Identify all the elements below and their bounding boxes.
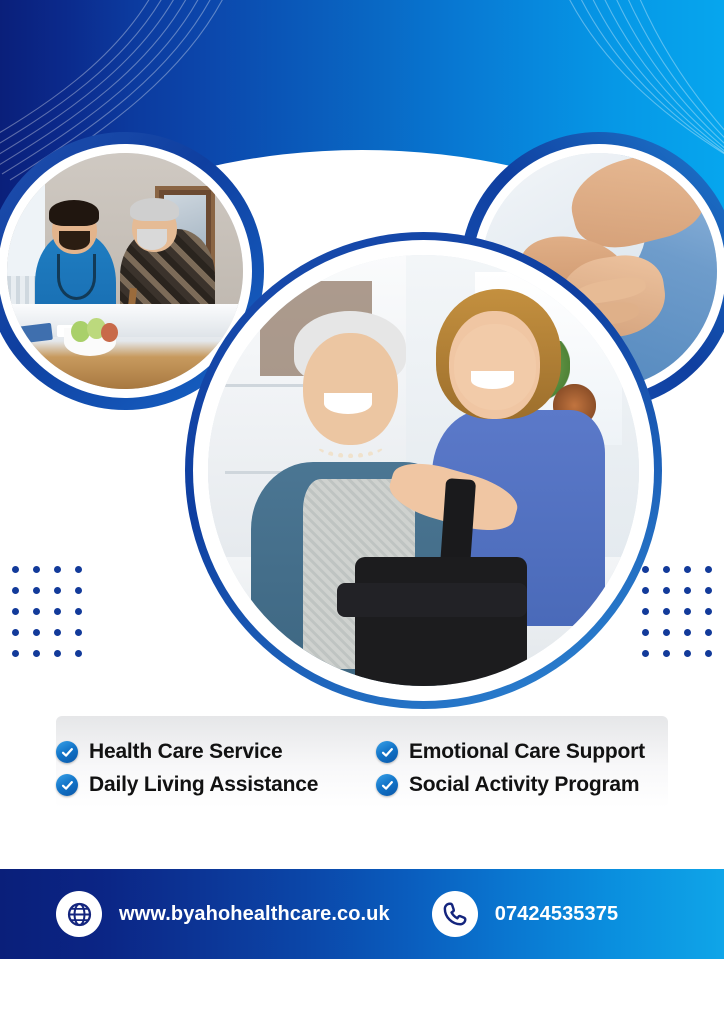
check-circle-icon <box>56 741 78 763</box>
dot <box>663 566 670 573</box>
dot <box>54 650 61 657</box>
website-contact[interactable]: www.byahohealthcare.co.uk <box>56 891 390 937</box>
dot <box>75 608 82 615</box>
phone-contact[interactable]: 07424535375 <box>432 891 618 937</box>
dot <box>12 608 19 615</box>
dot <box>54 629 61 636</box>
dot <box>75 629 82 636</box>
footer-contact-bar: www.byahohealthcare.co.uk 07424535375 <box>0 869 724 959</box>
dot <box>33 629 40 636</box>
dot <box>33 608 40 615</box>
dot <box>663 650 670 657</box>
feature-item-emotional-care-support: Emotional Care Support <box>376 740 676 764</box>
dot <box>33 587 40 594</box>
dot <box>705 608 712 615</box>
dot <box>33 566 40 573</box>
check-circle-icon <box>56 774 78 796</box>
feature-label: Health Care Service <box>89 740 282 764</box>
dot <box>12 566 19 573</box>
dot <box>12 650 19 657</box>
dot-grid-left <box>12 566 82 657</box>
dot <box>642 650 649 657</box>
dot <box>642 566 649 573</box>
dot <box>705 650 712 657</box>
dot <box>684 587 691 594</box>
feature-label: Social Activity Program <box>409 773 639 797</box>
dot <box>705 566 712 573</box>
dot <box>684 566 691 573</box>
dot <box>705 587 712 594</box>
dot <box>75 566 82 573</box>
dot <box>684 650 691 657</box>
check-circle-icon <box>376 774 398 796</box>
feature-item-daily-living-assistance: Daily Living Assistance <box>56 773 376 797</box>
dot <box>75 587 82 594</box>
dot <box>663 608 670 615</box>
features-list: Health Care Service Emotional Care Suppo… <box>56 740 680 797</box>
dot <box>642 608 649 615</box>
globe-icon <box>56 891 102 937</box>
dot <box>705 629 712 636</box>
dot <box>642 587 649 594</box>
dot <box>684 608 691 615</box>
dot <box>54 587 61 594</box>
dot <box>75 650 82 657</box>
dot <box>663 587 670 594</box>
dot <box>642 629 649 636</box>
dot <box>33 650 40 657</box>
dot-grid-right <box>642 566 712 657</box>
dot <box>54 608 61 615</box>
dot <box>684 629 691 636</box>
photo-caregiver-and-senior-woman <box>208 255 639 686</box>
website-url[interactable]: www.byahohealthcare.co.uk <box>119 903 390 926</box>
dot <box>12 629 19 636</box>
feature-label: Daily Living Assistance <box>89 773 318 797</box>
phone-icon <box>432 891 478 937</box>
healthcare-flyer: Health Care Service Emotional Care Suppo… <box>0 0 724 1024</box>
feature-item-social-activity-program: Social Activity Program <box>376 773 676 797</box>
phone-number[interactable]: 07424535375 <box>495 903 618 926</box>
feature-label: Emotional Care Support <box>409 740 645 764</box>
feature-item-health-care-service: Health Care Service <box>56 740 376 764</box>
dot <box>54 566 61 573</box>
dot <box>663 629 670 636</box>
dot <box>12 587 19 594</box>
check-circle-icon <box>376 741 398 763</box>
